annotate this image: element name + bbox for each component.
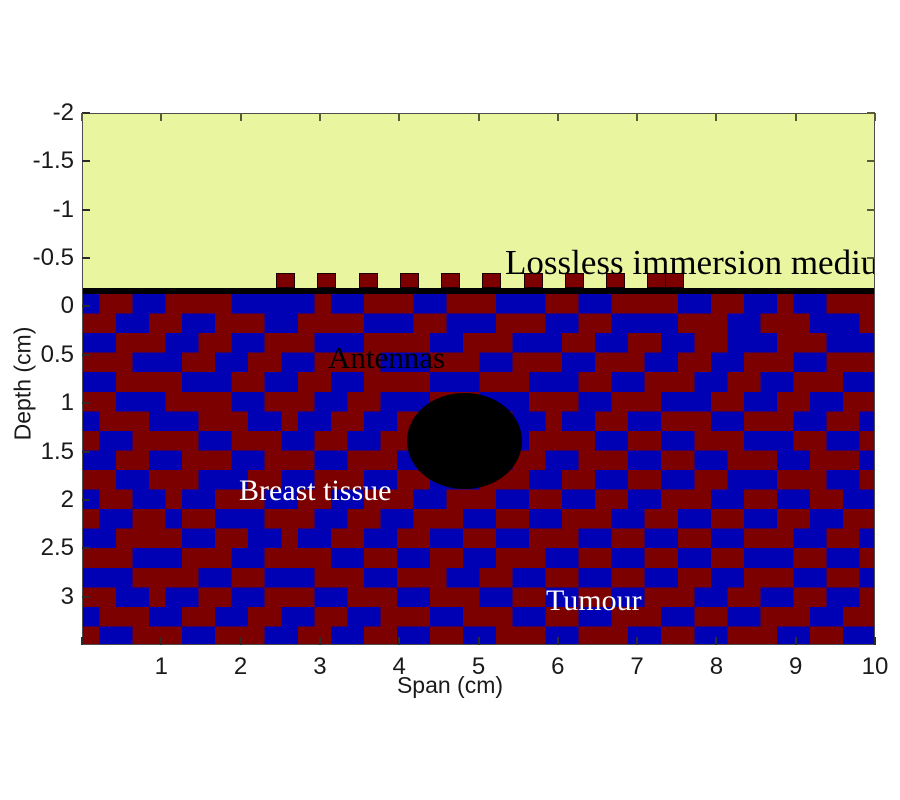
x-tick-8: [715, 637, 717, 645]
antenna-element-5: [441, 273, 460, 288]
tumour-marker: [407, 393, 521, 489]
y-tick-right-4: [867, 305, 875, 307]
y-tick-2: [82, 209, 90, 211]
y-tick-right-10: [867, 596, 875, 598]
plot-area: Lossless immersion medium Antennas Breas…: [82, 113, 875, 645]
skin-boundary-line: [83, 288, 874, 294]
x-ticklabel-8: 8: [710, 655, 723, 679]
x-ticklabel-9: 9: [789, 655, 802, 679]
y-ticklabel-9: 2.5: [0, 536, 74, 560]
x-tick-top-3: [319, 113, 321, 121]
y-tick-right-3: [867, 257, 875, 259]
x-tick-top-2: [240, 113, 242, 121]
y-ticklabel-7: 1.5: [0, 440, 74, 464]
y-tick-4: [82, 305, 90, 307]
y-tick-5: [82, 354, 90, 356]
y-axis-title: Depth (cm): [10, 314, 37, 454]
y-tick-right-5: [867, 354, 875, 356]
x-ticklabel-2: 2: [234, 655, 247, 679]
x-ticklabel-6: 6: [551, 655, 564, 679]
x-tick-1: [160, 637, 162, 645]
x-tick-0: [81, 637, 83, 645]
x-tick-top-7: [636, 113, 638, 121]
immersion-medium-region: [83, 114, 874, 288]
y-tick-right-7: [867, 451, 875, 453]
figure-canvas: Lossless immersion medium Antennas Breas…: [0, 0, 900, 800]
y-ticklabel-0: -2: [0, 101, 74, 125]
y-ticklabel-5: 0.5: [0, 343, 74, 367]
x-ticklabel-4: 4: [393, 655, 406, 679]
y-tick-right-2: [867, 209, 875, 211]
y-tick-3: [82, 257, 90, 259]
antenna-element-11: [665, 273, 684, 288]
x-tick-2: [240, 637, 242, 645]
x-tick-top-0: [81, 113, 83, 121]
antenna-element-9: [606, 273, 625, 288]
y-tick-right-6: [867, 402, 875, 404]
antenna-element-3: [359, 273, 378, 288]
y-tick-10: [82, 596, 90, 598]
x-tick-10: [874, 637, 876, 645]
antenna-element-6: [482, 273, 501, 288]
x-tick-6: [557, 637, 559, 645]
antenna-element-8: [565, 273, 584, 288]
y-tick-right-9: [867, 547, 875, 549]
x-tick-top-10: [874, 113, 876, 121]
x-tick-3: [319, 637, 321, 645]
x-tick-7: [636, 637, 638, 645]
x-ticklabel-7: 7: [630, 655, 643, 679]
x-tick-top-4: [398, 113, 400, 121]
antenna-element-4: [400, 273, 419, 288]
antenna-element-10: [647, 273, 666, 288]
y-ticklabel-10: 3: [0, 585, 74, 609]
x-tick-top-1: [160, 113, 162, 121]
y-tick-right-0: [867, 112, 875, 114]
y-ticklabel-3: -0.5: [0, 246, 74, 270]
y-tick-7: [82, 451, 90, 453]
y-tick-0: [82, 112, 90, 114]
y-tick-right-8: [867, 499, 875, 501]
y-ticklabel-4: 0: [0, 294, 74, 318]
y-ticklabel-6: 1: [0, 391, 74, 415]
y-ticklabel-2: -1: [0, 198, 74, 222]
y-tick-right-1: [867, 160, 875, 162]
y-tick-1: [82, 160, 90, 162]
antenna-element-2: [317, 273, 336, 288]
x-ticklabel-1: 1: [155, 655, 168, 679]
antenna-element-7: [524, 273, 543, 288]
y-ticklabel-1: -1.5: [0, 149, 74, 173]
antenna-element-1: [276, 273, 295, 288]
y-ticklabel-8: 2: [0, 488, 74, 512]
x-tick-top-8: [715, 113, 717, 121]
x-tick-top-9: [795, 113, 797, 121]
x-ticklabel-10: 10: [862, 655, 889, 679]
y-tick-9: [82, 547, 90, 549]
x-tick-5: [478, 637, 480, 645]
x-tick-9: [795, 637, 797, 645]
x-tick-4: [398, 637, 400, 645]
x-ticklabel-5: 5: [472, 655, 485, 679]
x-ticklabel-3: 3: [313, 655, 326, 679]
x-tick-top-5: [478, 113, 480, 121]
y-tick-8: [82, 499, 90, 501]
x-tick-top-6: [557, 113, 559, 121]
y-tick-6: [82, 402, 90, 404]
x-axis-title: Span (cm): [0, 672, 900, 699]
